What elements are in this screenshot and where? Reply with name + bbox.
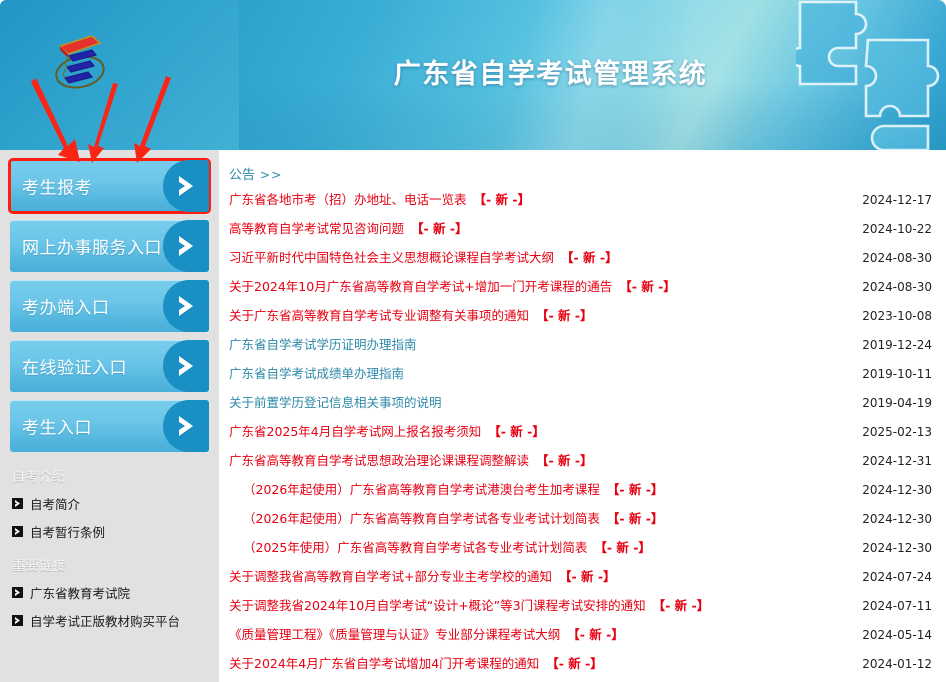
notice-more-link[interactable]: >> [260,168,282,182]
arrow-bullet-icon [12,615,23,626]
notice-date: 2019-10-11 [846,367,932,381]
new-badge: 【- 新 -】 [536,308,593,323]
graduation-cap-books-logo [52,30,108,102]
notice-row: 广东省自学考试成绩单办理指南2019-10-11 [219,363,946,392]
chevron-right-icon [176,175,196,197]
notice-title-text: 广东省各地市考（招）办地址、电话一览表 [229,192,467,207]
notice-title-link[interactable]: 《质量管理工程》《质量管理与认证》专业部分课程考试大纲【- 新 -】 [229,624,846,643]
sidebar-link-label: 自学考试正版教材购买平台 [30,611,180,630]
notice-date: 2025-02-13 [846,425,932,439]
notice-row: 高等教育自学考试常见咨询问题【- 新 -】2024-10-22 [219,218,946,247]
notice-title-text: 习近平新时代中国特色社会主义思想概论课程自学考试大纲 [229,250,554,265]
notice-row: 关于前置学历登记信息相关事项的说明2019-04-19 [219,392,946,421]
notice-title-link[interactable]: 广东省各地市考（招）办地址、电话一览表【- 新 -】 [229,189,846,208]
notice-row: （2025年使用）广东省高等教育自学考试各专业考试计划简表【- 新 -】2024… [219,537,946,566]
notice-title-link[interactable]: 关于2024年4月广东省自学考试增加4门开考课程的通知【- 新 -】 [229,653,846,672]
sidebar-nav-online-service[interactable]: 网上办事服务入口 [10,220,209,272]
sidebar: 考生报考 网上办事服务入口 考办端入口 在线验证入口 [0,150,219,682]
arrow-bullet-icon [12,587,23,598]
notice-title-link[interactable]: 广东省高等教育自学考试思想政治理论课课程调整解读【- 新 -】 [229,450,846,469]
notice-title-text: 关于调整我省2024年10月自学考试“设计+概论”等3门课程考试安排的通知 [229,598,646,613]
notice-title-link[interactable]: 关于广东省高等教育自学考试专业调整有关事项的通知【- 新 -】 [229,305,846,324]
notice-date: 2024-01-12 [846,657,932,671]
arrow-bullet-icon [12,498,23,509]
page-content: 考生报考 网上办事服务入口 考办端入口 在线验证入口 [0,150,946,682]
notice-title-text: 关于2024年10月广东省高等教育自学考试+增加一门开考课程的通告 [229,279,612,294]
notice-row: 关于2024年4月广东省自学考试增加4门开考课程的通知【- 新 -】2024-0… [219,653,946,682]
notice-title-link[interactable]: （2025年使用）广东省高等教育自学考试各专业考试计划简表【- 新 -】 [229,537,846,556]
new-badge: 【- 新 -】 [411,221,468,236]
notice-title-text: 广东省自学考试学历证明办理指南 [229,337,417,352]
logo-panel [0,0,239,150]
notice-title-text: 关于调整我省高等教育自学考试+部分专业主考学校的通知 [229,569,552,584]
notice-row: 习近平新时代中国特色社会主义思想概论课程自学考试大纲【- 新 -】2024-08… [219,247,946,276]
notice-row: 广东省高等教育自学考试思想政治理论课课程调整解读【- 新 -】2024-12-3… [219,450,946,479]
arrow-bullet-icon [12,526,23,537]
sidebar-nav-kaosheng-baokao[interactable]: 考生报考 [10,160,209,212]
new-badge: 【- 新 -】 [536,453,593,468]
notice-title-link[interactable]: （2026年起使用）广东省高等教育自学考试各专业考试计划简表【- 新 -】 [229,508,846,527]
notice-date: 2024-12-31 [846,454,932,468]
sidebar-link-zikao-jianjie[interactable]: 自考简介 [12,494,209,513]
notice-date: 2024-10-22 [846,222,932,236]
notice-title-text: （2026年起使用）广东省高等教育自学考试港澳台考生加考课程 [243,482,600,497]
new-badge: 【- 新 -】 [474,192,531,207]
notice-date: 2023-10-08 [846,309,932,323]
notice-title-link[interactable]: 广东省自学考试学历证明办理指南 [229,334,846,353]
notice-list: 广东省各地市考（招）办地址、电话一览表【- 新 -】2024-12-17高等教育… [219,189,946,682]
chevron-right-icon [176,295,196,317]
notice-title-text: 关于广东省高等教育自学考试专业调整有关事项的通知 [229,308,529,323]
notice-date: 2024-07-24 [846,570,932,584]
notice-panel-header: 公告 >> [219,150,946,189]
notice-row: 《质量管理工程》《质量管理与认证》专业部分课程考试大纲【- 新 -】2024-0… [219,624,946,653]
sidebar-link-textbook-platform[interactable]: 自学考试正版教材购买平台 [12,611,209,630]
notice-date: 2019-12-24 [846,338,932,352]
sidebar-nav-label: 网上办事服务入口 [22,234,162,259]
notice-date: 2024-12-17 [846,193,932,207]
sidebar-nav-online-verify[interactable]: 在线验证入口 [10,340,209,392]
sidebar-link-label: 自考暂行条例 [30,522,105,541]
chevron-right-icon [176,415,196,437]
notice-date: 2024-08-30 [846,280,932,294]
notice-title-text: 高等教育自学考试常见咨询问题 [229,221,404,236]
notice-row: （2026年起使用）广东省高等教育自学考试港澳台考生加考课程【- 新 -】202… [219,479,946,508]
notice-title-link[interactable]: 广东省2025年4月自学考试网上报名报考须知【- 新 -】 [229,421,846,440]
sidebar-link-zikao-tiaoli[interactable]: 自考暂行条例 [12,522,209,541]
sidebar-section-title-intro: 自考介绍 [12,466,209,485]
notice-title-text: 关于2024年4月广东省自学考试增加4门开考课程的通知 [229,656,539,671]
new-badge: 【- 新 -】 [607,482,664,497]
notice-row: （2026年起使用）广东省高等教育自学考试各专业考试计划简表【- 新 -】202… [219,508,946,537]
sidebar-nav-label: 考生入口 [22,414,92,439]
sidebar-link-examination-authority[interactable]: 广东省教育考试院 [12,583,209,602]
notice-date: 2024-12-30 [846,483,932,497]
page-title: 广东省自学考试管理系统 [239,52,946,91]
notice-title-link[interactable]: 关于2024年10月广东省高等教育自学考试+增加一门开考课程的通告【- 新 -】 [229,276,846,295]
notice-row: 广东省自学考试学历证明办理指南2019-12-24 [219,334,946,363]
notice-title-text: 广东省2025年4月自学考试网上报名报考须知 [229,424,481,439]
notice-title-text: （2025年使用）广东省高等教育自学考试各专业考试计划简表 [243,540,587,555]
sidebar-nav-label: 考生报考 [22,174,92,199]
notice-panel: 公告 >> 广东省各地市考（招）办地址、电话一览表【- 新 -】2024-12-… [219,150,946,682]
new-badge: 【- 新 -】 [619,279,676,294]
notice-date: 2024-12-30 [846,541,932,555]
notice-title-text: 广东省高等教育自学考试思想政治理论课课程调整解读 [229,453,529,468]
notice-date: 2024-07-11 [846,599,932,613]
notice-row: 广东省2025年4月自学考试网上报名报考须知【- 新 -】2025-02-13 [219,421,946,450]
notice-row: 广东省各地市考（招）办地址、电话一览表【- 新 -】2024-12-17 [219,189,946,218]
banner-panel: 广东省自学考试管理系统 [239,0,946,150]
notice-title-link[interactable]: 广东省自学考试成绩单办理指南 [229,363,846,382]
sidebar-section-title-links: 重要链接 [12,555,209,574]
new-badge: 【- 新 -】 [546,656,603,671]
new-badge: 【- 新 -】 [594,540,651,555]
sidebar-nav-kaoban-entry[interactable]: 考办端入口 [10,280,209,332]
new-badge: 【- 新 -】 [607,511,664,526]
notice-title-text: 《质量管理工程》《质量管理与认证》专业部分课程考试大纲 [229,627,560,642]
new-badge: 【- 新 -】 [488,424,545,439]
notice-title-link[interactable]: 高等教育自学考试常见咨询问题【- 新 -】 [229,218,846,237]
notice-title-link[interactable]: （2026年起使用）广东省高等教育自学考试港澳台考生加考课程【- 新 -】 [229,479,846,498]
notice-panel-label: 公告 [229,164,255,183]
notice-row: 关于广东省高等教育自学考试专业调整有关事项的通知【- 新 -】2023-10-0… [219,305,946,334]
new-badge: 【- 新 -】 [559,569,616,584]
notice-title-link[interactable]: 习近平新时代中国特色社会主义思想概论课程自学考试大纲【- 新 -】 [229,247,846,266]
new-badge: 【- 新 -】 [567,627,624,642]
notice-date: 2024-05-14 [846,628,932,642]
chevron-right-icon [176,235,196,257]
notice-title-link[interactable]: 关于前置学历登记信息相关事项的说明 [229,392,846,411]
new-badge: 【- 新 -】 [653,598,710,613]
chevron-right-icon [176,355,196,377]
page-header: 广东省自学考试管理系统 [0,0,946,150]
notice-date: 2019-04-19 [846,396,932,410]
notice-row: 关于2024年10月广东省高等教育自学考试+增加一门开考课程的通告【- 新 -】… [219,276,946,305]
notice-date: 2024-08-30 [846,251,932,265]
sidebar-link-label: 自考简介 [30,494,80,513]
notice-title-link[interactable]: 关于调整我省高等教育自学考试+部分专业主考学校的通知【- 新 -】 [229,566,846,585]
notice-title-text: 广东省自学考试成绩单办理指南 [229,366,404,381]
sidebar-nav-label: 考办端入口 [22,294,110,319]
sidebar-nav-label: 在线验证入口 [22,354,127,379]
sidebar-nav-student-entry[interactable]: 考生入口 [10,400,209,452]
notice-title-text: （2026年起使用）广东省高等教育自学考试各专业考试计划简表 [243,511,600,526]
notice-row: 关于调整我省2024年10月自学考试“设计+概论”等3门课程考试安排的通知【- … [219,595,946,624]
notice-row: 关于调整我省高等教育自学考试+部分专业主考学校的通知【- 新 -】2024-07… [219,566,946,595]
notice-date: 2024-12-30 [846,512,932,526]
sidebar-link-label: 广东省教育考试院 [30,583,130,602]
new-badge: 【- 新 -】 [561,250,618,265]
notice-title-text: 关于前置学历登记信息相关事项的说明 [229,395,442,410]
notice-title-link[interactable]: 关于调整我省2024年10月自学考试“设计+概论”等3门课程考试安排的通知【- … [229,595,846,614]
